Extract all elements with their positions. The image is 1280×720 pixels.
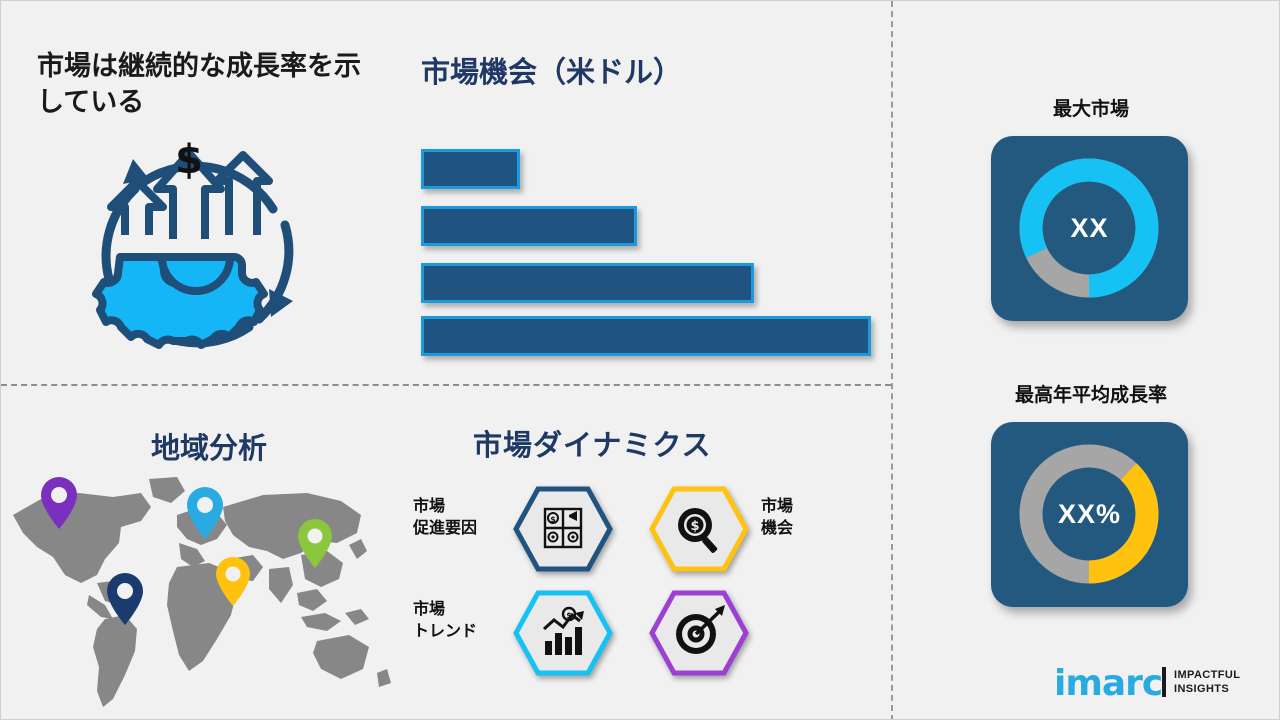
svg-text:$: $ <box>550 515 556 524</box>
world-map <box>1 463 399 713</box>
dynamics-hex-challenges[interactable] <box>649 589 749 677</box>
highest-cagr-card: XX% <box>991 422 1188 607</box>
highest-cagr-title: 最高年平均成長率 <box>961 380 1221 407</box>
infographic-slide: 市場は継続的な成長率を示している $ <box>0 0 1280 720</box>
dynamics-label-drivers: 市場 促進要因 <box>413 496 477 539</box>
imarc-tagline: IMPACTFUL INSIGHTS <box>1174 669 1240 697</box>
dynamics-label-opportunities: 市場 機会 <box>761 496 793 539</box>
dynamics-hex-drivers[interactable]: $ <box>513 485 613 573</box>
opportunity-panel-title: 市場機会（米ドル） <box>421 49 861 91</box>
growth-cycle-gear-icon: $ <box>73 129 319 369</box>
imarc-logo: imarc IMPACTFUL INSIGHTS <box>1054 661 1254 705</box>
horizontal-divider <box>1 384 891 386</box>
dynamics-panel-title: 市場ダイナミクス <box>473 422 813 464</box>
bar-row <box>421 316 871 356</box>
opportunity-bar-chart <box>419 147 879 347</box>
svg-text:$: $ <box>690 519 699 534</box>
bar-row <box>421 206 637 246</box>
logo-divider-bar <box>1162 667 1166 697</box>
largest-market-card: XX <box>991 136 1188 321</box>
bar-row <box>421 149 520 189</box>
svg-text:$: $ <box>566 611 572 620</box>
dynamics-hex-trends[interactable]: $ <box>513 589 613 677</box>
growth-panel-title: 市場は継続的な成長率を示している <box>37 49 387 120</box>
regional-panel-title: 地域分析 <box>151 425 411 467</box>
highest-cagr-donut <box>991 422 1188 607</box>
bar-row <box>421 263 754 303</box>
imarc-wordmark: imarc <box>1054 663 1162 704</box>
largest-market-title: 最大市場 <box>961 94 1221 121</box>
largest-market-donut <box>991 136 1188 321</box>
dynamics-label-trends: 市場 トレンド <box>413 599 477 642</box>
vertical-divider <box>891 1 893 720</box>
svg-text:$: $ <box>175 137 203 183</box>
pin-latin-america <box>107 573 143 625</box>
dynamics-hex-opportunities[interactable]: $ <box>649 485 749 573</box>
